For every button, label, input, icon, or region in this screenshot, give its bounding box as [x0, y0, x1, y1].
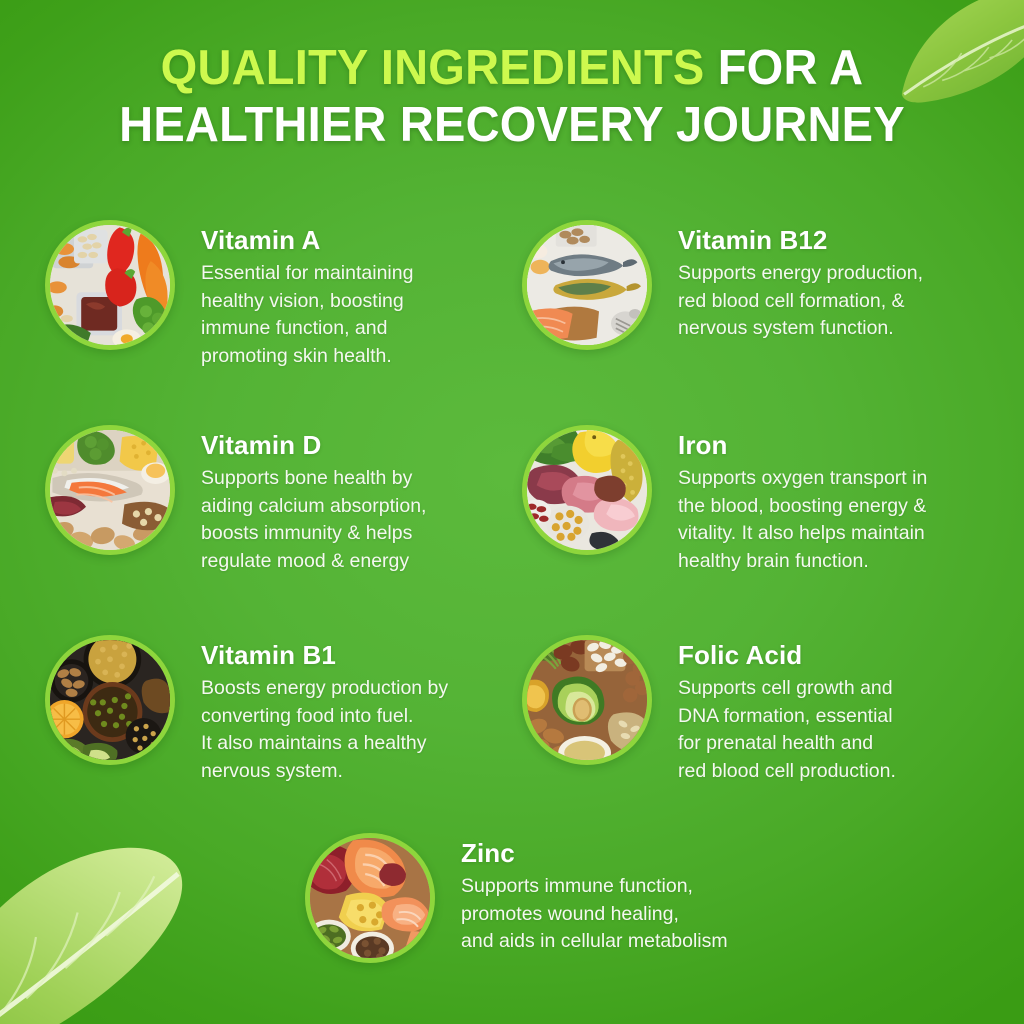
- vitamin-d-foods-image: [50, 430, 170, 550]
- text-column: Vitamin B1 Boosts energy production by c…: [201, 635, 448, 785]
- ingredient-description: Supports bone health by aiding calcium a…: [201, 465, 426, 575]
- ingredient-description: Boosts energy production by converting f…: [201, 675, 448, 785]
- ingredient-item-iron: Iron Supports oxygen transport in the bl…: [522, 425, 1002, 575]
- ingredient-item-vitamin-d: Vitamin D Supports bone health by aiding…: [45, 425, 495, 575]
- text-column: Iron Supports oxygen transport in the bl…: [678, 425, 927, 575]
- ingredient-description: Supports cell growth and DNA formation, …: [678, 675, 896, 785]
- thumbnail-folic-acid: [522, 635, 652, 765]
- thumbnail-iron: [522, 425, 652, 555]
- thumbnail-zinc: [305, 833, 435, 963]
- text-column: Vitamin B12 Supports energy production, …: [678, 220, 923, 343]
- ingredient-title: Vitamin B1: [201, 640, 448, 671]
- ingredient-list: Vitamin A Essential for maintaining heal…: [0, 213, 1024, 813]
- vitamin-b1-foods-image: [50, 640, 170, 760]
- text-column: Zinc Supports immune function, promotes …: [461, 833, 728, 956]
- ingredient-title: Iron: [678, 430, 927, 461]
- ingredient-item-zinc: Zinc Supports immune function, promotes …: [305, 833, 925, 963]
- thumbnail-vitamin-b1: [45, 635, 175, 765]
- ingredient-description: Essential for maintaining healthy vision…: [201, 260, 413, 370]
- ingredient-title: Zinc: [461, 838, 728, 869]
- infographic-poster: QUALITY INGREDIENTS FOR A HEALTHIER RECO…: [0, 0, 1024, 1024]
- ingredient-title: Folic Acid: [678, 640, 896, 671]
- ingredient-item-vitamin-a: Vitamin A Essential for maintaining heal…: [45, 220, 495, 370]
- ingredient-item-vitamin-b12: Vitamin B12 Supports energy production, …: [522, 220, 1002, 350]
- vitamin-a-foods-image: [50, 225, 170, 345]
- ingredient-item-folic-acid: Folic Acid Supports cell growth and DNA …: [522, 635, 1002, 785]
- title-highlight: QUALITY INGREDIENTS: [161, 41, 705, 95]
- text-column: Vitamin D Supports bone health by aiding…: [201, 425, 426, 575]
- folic-acid-foods-image: [527, 640, 647, 760]
- title-line-1: QUALITY INGREDIENTS FOR A: [20, 40, 1003, 97]
- text-column: Vitamin A Essential for maintaining heal…: [201, 220, 413, 370]
- thumbnail-vitamin-b12: [522, 220, 652, 350]
- ingredient-description: Supports energy production, red blood ce…: [678, 260, 923, 343]
- thumbnail-vitamin-a: [45, 220, 175, 350]
- vitamin-b12-foods-image: [527, 225, 647, 345]
- ingredient-description: Supports immune function, promotes wound…: [461, 873, 728, 956]
- title-line-2: HEALTHIER RECOVERY JOURNEY: [20, 97, 1003, 154]
- ingredient-description: Supports oxygen transport in the blood, …: [678, 465, 927, 575]
- ingredient-title: Vitamin D: [201, 430, 426, 461]
- leaf-icon: [0, 826, 217, 1024]
- text-column: Folic Acid Supports cell growth and DNA …: [678, 635, 896, 785]
- ingredient-item-vitamin-b1: Vitamin B1 Boosts energy production by c…: [45, 635, 505, 785]
- title-line-1-rest: FOR A: [704, 41, 863, 95]
- zinc-foods-image: [310, 838, 430, 958]
- iron-foods-image: [527, 430, 647, 550]
- thumbnail-vitamin-d: [45, 425, 175, 555]
- ingredient-title: Vitamin B12: [678, 225, 923, 256]
- ingredient-title: Vitamin A: [201, 225, 413, 256]
- poster-title: QUALITY INGREDIENTS FOR A HEALTHIER RECO…: [0, 40, 1024, 154]
